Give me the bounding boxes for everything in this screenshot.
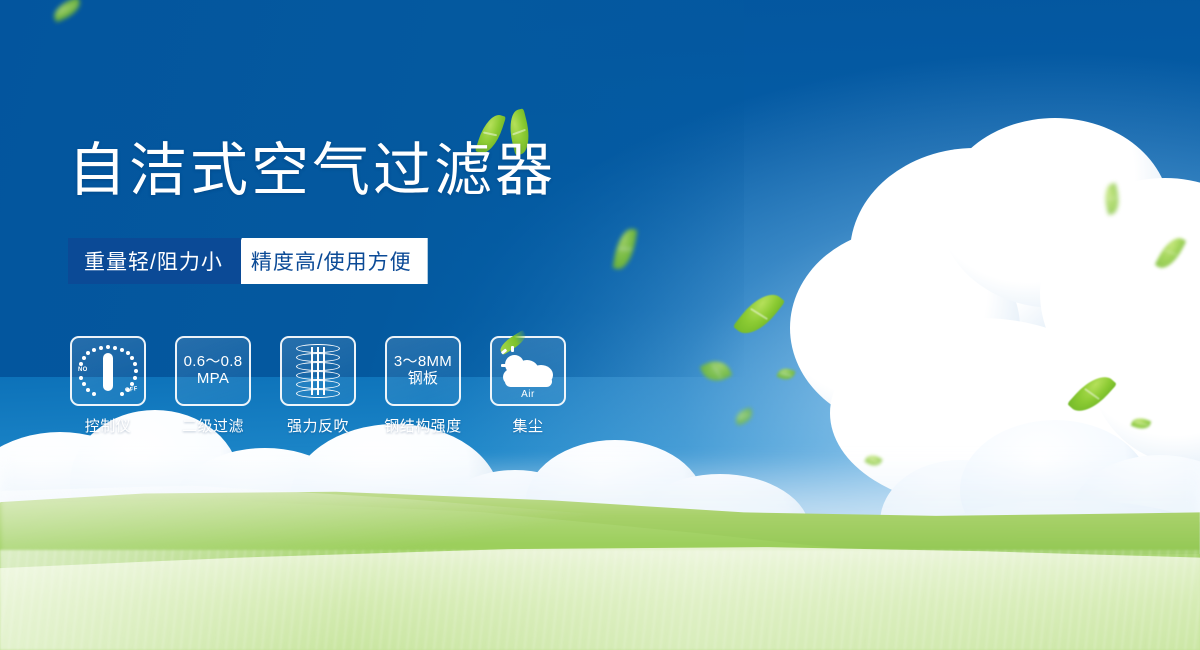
steel-value-bottom: 钢板: [408, 371, 439, 388]
cloud-air-icon: Air: [501, 346, 555, 396]
feature-item-control[interactable]: NO OFF 控制仪: [70, 336, 146, 436]
feature-label: 集尘: [512, 415, 543, 436]
feature-icon-box: [280, 336, 356, 406]
feature-icon-box: 3～8MM 钢板: [385, 336, 461, 406]
steel-value-top: 3～8MM: [394, 354, 452, 371]
feature-label: 二级过滤: [182, 415, 244, 436]
feature-item-blowback[interactable]: 强力反吹: [280, 336, 356, 436]
air-caption: Air: [501, 389, 555, 400]
dial-needle: [103, 353, 113, 391]
feature-list: NO OFF 控制仪 0.6～0.8 MPA 二级过滤: [70, 336, 566, 436]
subtitle-bar: 重量轻/阻力小 精度高/使用方便: [68, 238, 464, 284]
grass-sheen-overlay: [0, 550, 1200, 650]
page-title: 自洁式空气过滤器: [68, 142, 556, 200]
feature-label: 钢结构强度: [384, 415, 462, 436]
dial-label-on: NO: [78, 367, 88, 373]
feature-item-filtration[interactable]: 0.6～0.8 MPA 二级过滤: [175, 336, 251, 436]
pressure-value-top: 0.6～0.8: [184, 354, 243, 371]
feature-item-steel-strength[interactable]: 3～8MM 钢板 钢结构强度: [385, 336, 461, 436]
feature-icon-box: Air: [490, 336, 566, 406]
promotional-banner: 自洁式空气过滤器 重量轻/阻力小 精度高/使用方便: [0, 0, 1200, 650]
subtitle-right-segment: 精度高/使用方便: [225, 238, 428, 284]
pressure-value-bottom: MPA: [197, 371, 229, 388]
feature-icon-box: NO OFF: [70, 336, 146, 406]
feature-label: 强力反吹: [287, 415, 349, 436]
dial-gauge-icon: NO OFF: [79, 344, 137, 398]
feature-icon-box: 0.6～0.8 MPA: [175, 336, 251, 406]
dial-label-off: OFF: [125, 386, 139, 394]
subtitle-left-segment: 重量轻/阻力小: [68, 238, 241, 284]
filter-coil-icon: [296, 344, 340, 398]
feature-label: 控制仪: [85, 415, 132, 436]
feature-item-dust-collection[interactable]: Air 集尘: [490, 336, 566, 436]
